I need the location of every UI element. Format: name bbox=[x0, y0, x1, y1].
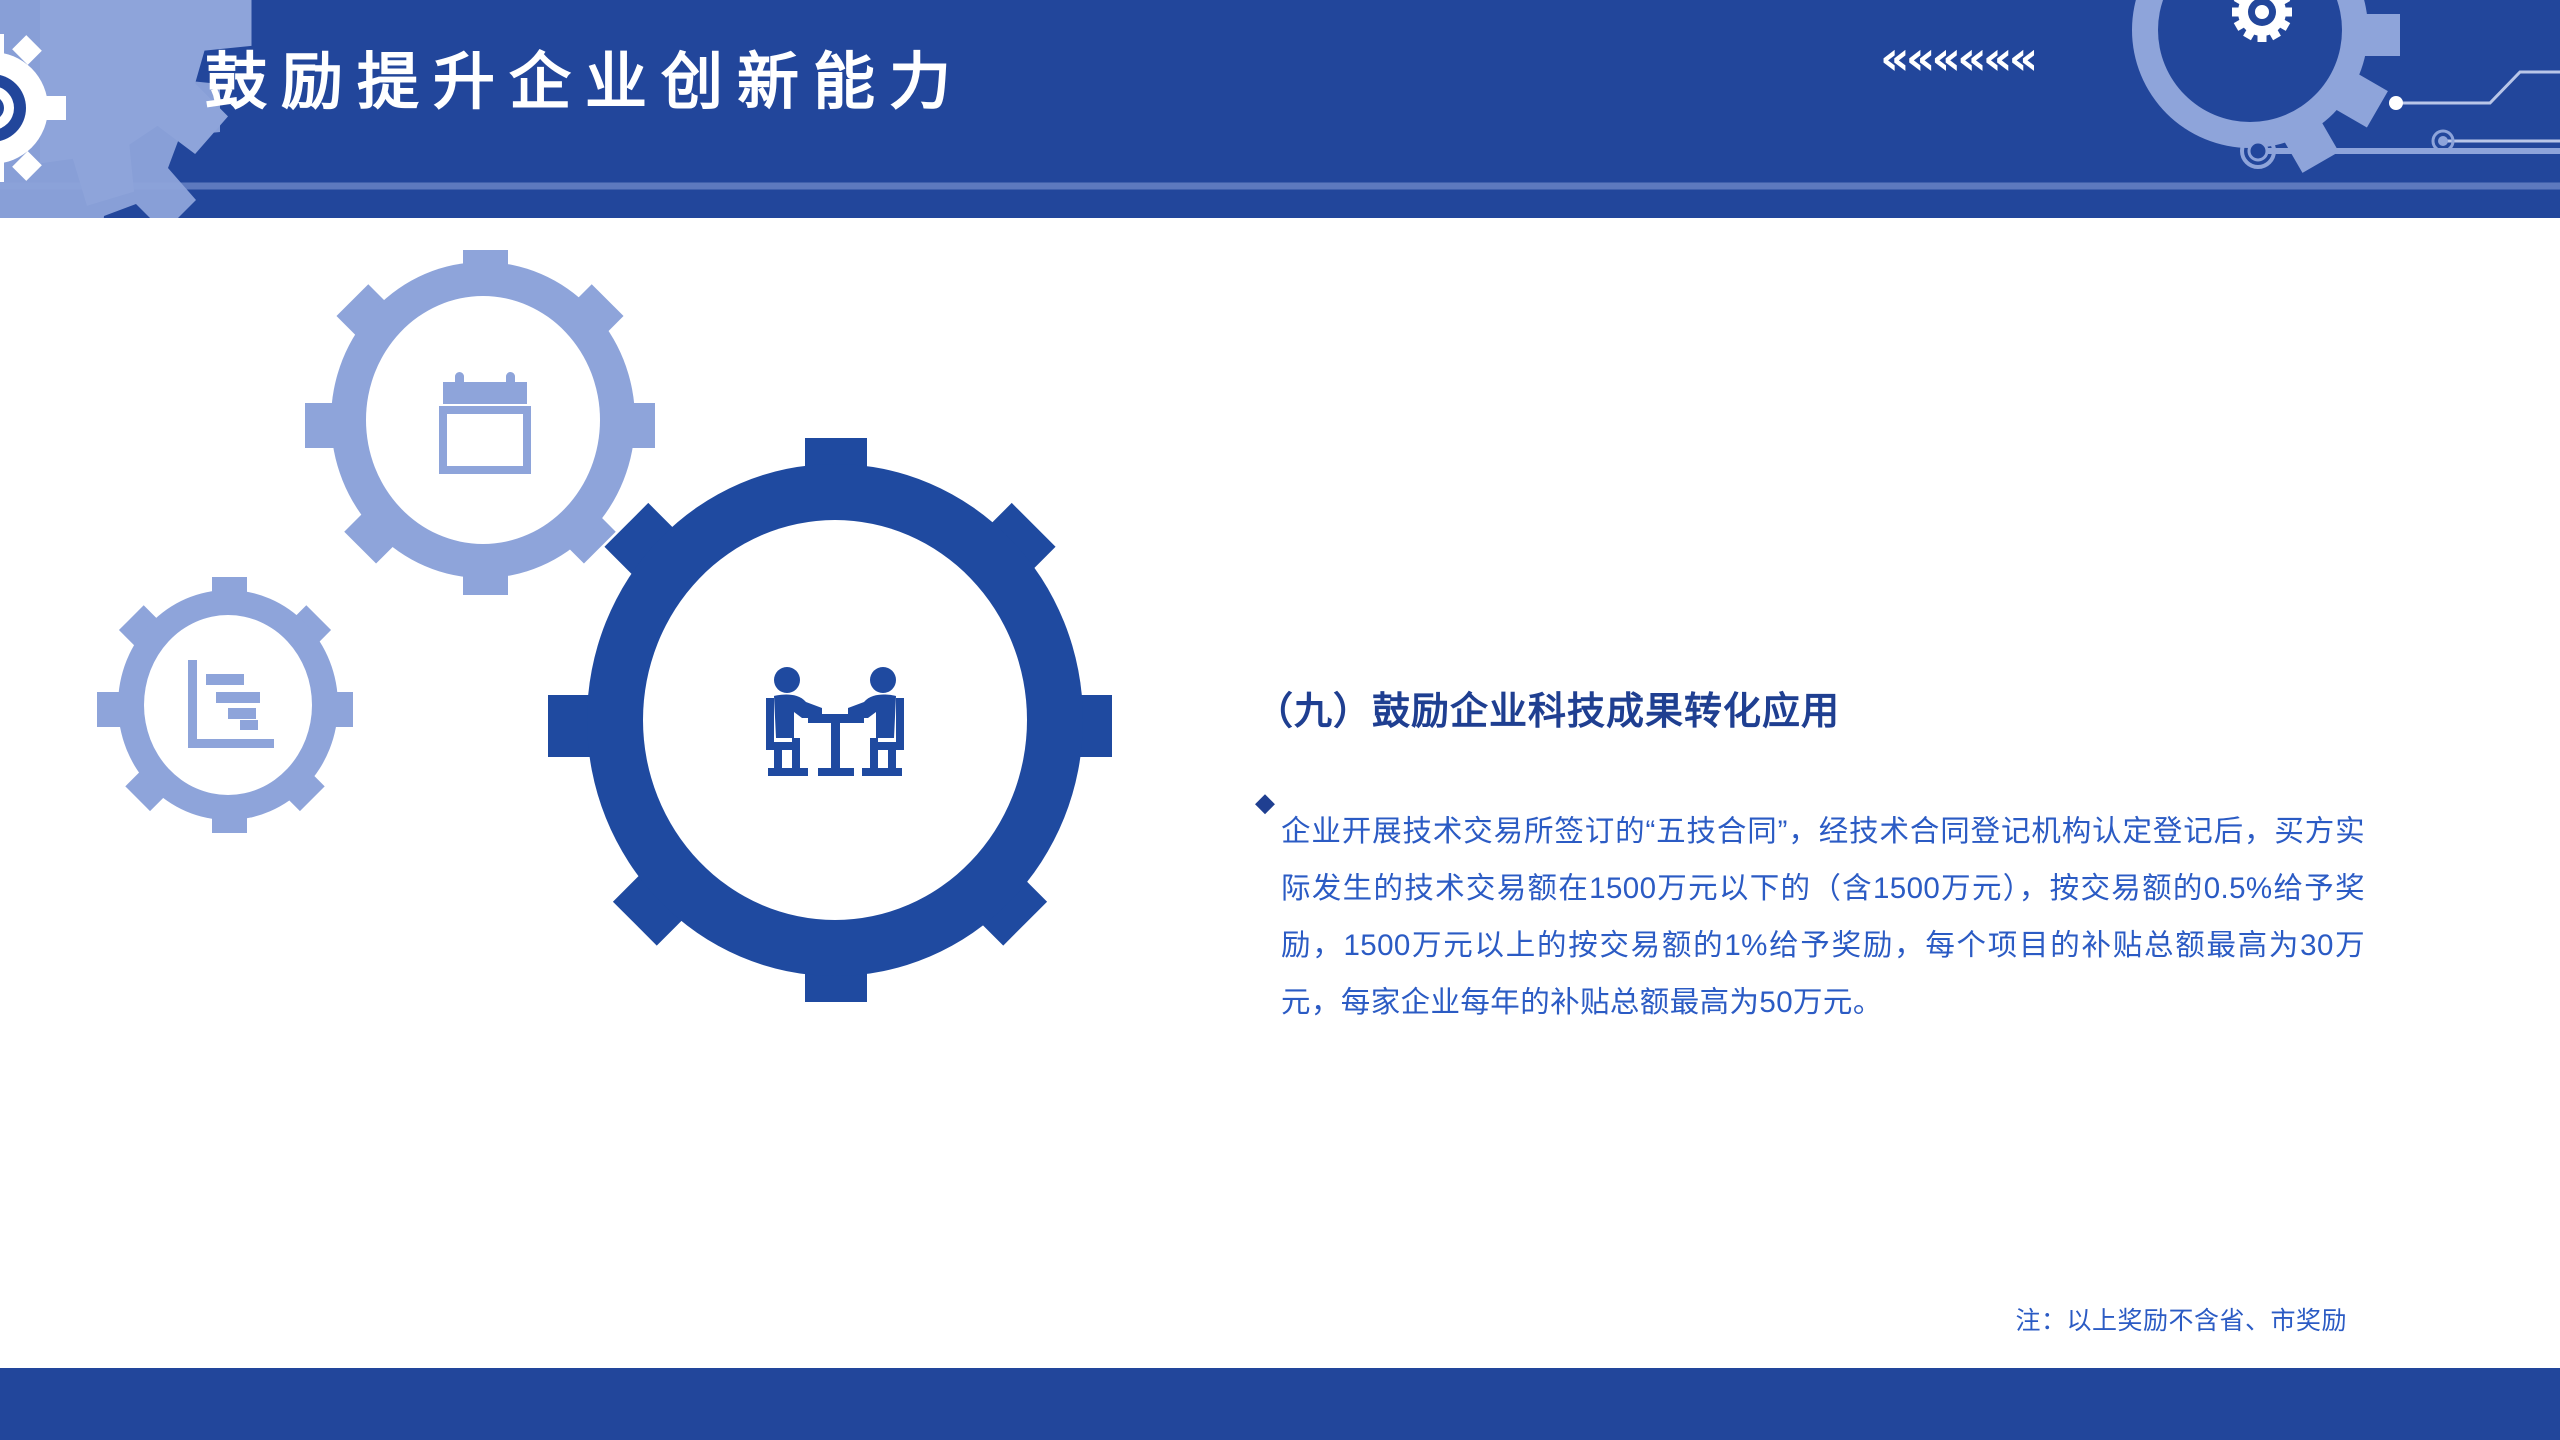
gear-cluster-illustration bbox=[40, 250, 1220, 1070]
footer-band bbox=[0, 1368, 2560, 1440]
page-title: 鼓励提升企业创新能力 bbox=[205, 52, 965, 114]
content-block: （九）鼓励企业科技成果转化应用 ◆ 企业开展技术交易所签订的“五技合同”，经技术… bbox=[1255, 690, 2365, 1061]
circuit-node-icon bbox=[2438, 136, 2448, 146]
gear-calendar bbox=[305, 250, 655, 595]
footer-note: 注：以上奖励不含省、市奖励 bbox=[2015, 1301, 2347, 1337]
chevron-left-decoration: «««««« bbox=[1880, 35, 2034, 81]
gear-meeting bbox=[548, 438, 1112, 1002]
gear-icon bbox=[305, 250, 655, 595]
bullet-item: ◆ 企业开展技术交易所签订的“五技合同”，经技术合同登记机构认定登记后，买方实际… bbox=[1255, 774, 2365, 1061]
policy-paragraph: 企业开展技术交易所签订的“五技合同”，经技术合同登记机构认定登记后，买方实际发生… bbox=[1281, 803, 2365, 1031]
section-heading: （九）鼓励企业科技成果转化应用 bbox=[1255, 690, 2365, 736]
gear-chart bbox=[97, 577, 353, 833]
circuit-node-icon bbox=[2389, 96, 2403, 110]
diamond-bullet-icon: ◆ bbox=[1255, 774, 1275, 831]
gear-icon bbox=[97, 577, 353, 833]
header-band: «««««« 鼓励提升企业创新能力 bbox=[0, 0, 2560, 218]
circuit-node-icon bbox=[2249, 142, 2267, 160]
